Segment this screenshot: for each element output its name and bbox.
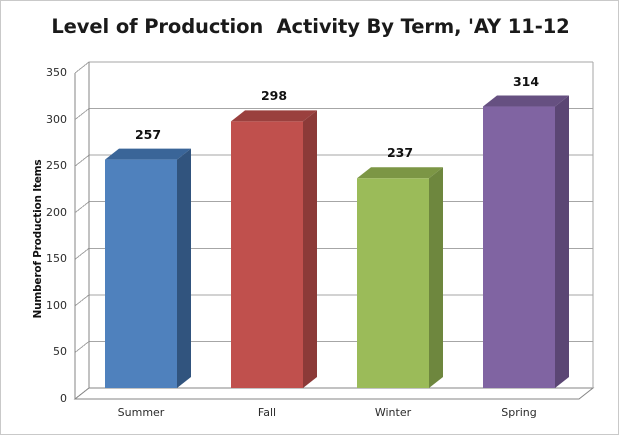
y-tick-250: 250 [27, 159, 67, 172]
gridline-depth-connector [75, 341, 89, 352]
gridline-depth-connector [75, 248, 89, 259]
bar-side-face [555, 96, 569, 388]
bar-spring [483, 96, 569, 388]
bar-side-face [303, 110, 317, 388]
gridline-depth-connector [75, 109, 89, 120]
floor-group [75, 388, 593, 399]
chart-floor [75, 388, 593, 399]
bar-front-face [357, 178, 429, 388]
data-label-fall: 298 [234, 88, 314, 103]
y-tick-50: 50 [27, 345, 67, 358]
plot-area [1, 1, 619, 435]
bar-side-face [177, 149, 191, 388]
y-tick-150: 150 [27, 252, 67, 265]
bar-top-face [357, 167, 443, 178]
data-label-summer: 257 [108, 127, 188, 142]
bar-top-face [105, 149, 191, 160]
x-tick-summer: Summer [86, 406, 196, 419]
x-tick-fall: Fall [212, 406, 322, 419]
y-tick-200: 200 [27, 206, 67, 219]
bar-winter [357, 167, 443, 388]
data-label-spring: 314 [486, 74, 566, 89]
gridline-depth-connector [75, 62, 89, 73]
chart-container: Level of Production Activity By Term, 'A… [0, 0, 619, 435]
x-tick-spring: Spring [464, 406, 574, 419]
gridline-depth-connector [75, 295, 89, 306]
bar-top-face [231, 110, 317, 121]
x-tick-winter: Winter [338, 406, 448, 419]
gridline-depth-connector [75, 202, 89, 213]
bar-summer [105, 149, 191, 388]
gridline-depth-connector [75, 155, 89, 166]
y-tick-100: 100 [27, 299, 67, 312]
bar-front-face [105, 160, 177, 388]
y-tick-350: 350 [27, 66, 67, 79]
bar-top-face [483, 96, 569, 107]
bar-fall [231, 110, 317, 388]
bar-side-face [429, 167, 443, 388]
data-label-winter: 237 [360, 145, 440, 160]
y-tick-300: 300 [27, 113, 67, 126]
y-tick-0: 0 [27, 392, 67, 405]
bar-front-face [231, 121, 303, 388]
bar-front-face [483, 107, 555, 388]
